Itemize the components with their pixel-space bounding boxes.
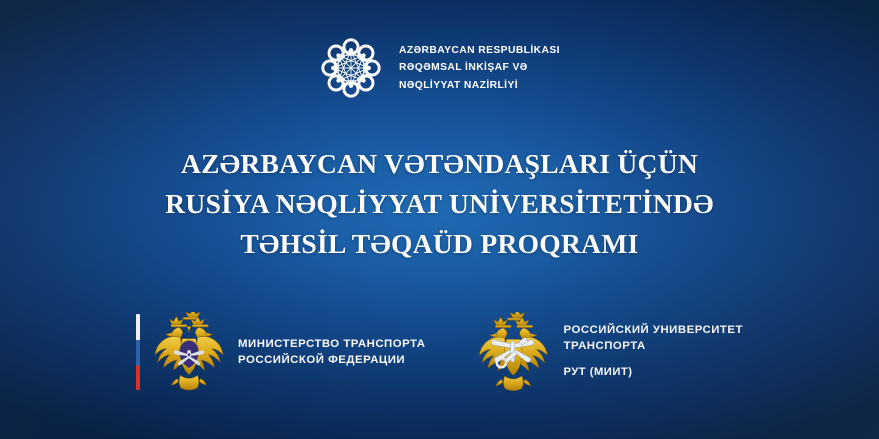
russian-university-of-transport-logo: РОССИЙСКИЙ УНИВЕРСИТЕТ ТРАНСПОРТА РУТ (М… bbox=[474, 312, 743, 392]
russian-university-of-transport-abbreviation: РУТ (МИИТ) bbox=[564, 365, 743, 381]
ministry-header-lockup: AZƏRBAYCAN RESPUBLİKASI RƏQƏMSAL İNKİŞAF… bbox=[0, 36, 879, 100]
page-title-line-1: AZƏRBAYCAN VƏTƏNDAŞLARI ÜÇÜN bbox=[0, 144, 879, 184]
ministry-header-line-3: NƏQLİYYAT NAZİRLİYİ bbox=[399, 77, 560, 94]
russian-tricolor-bar bbox=[136, 314, 140, 390]
russian-university-of-transport-line-1: РОССИЙСКИЙ УНИВЕРСИТЕТ bbox=[564, 323, 743, 339]
ministry-header-line-1: AZƏRBAYCAN RESPUBLİKASI bbox=[399, 42, 560, 59]
ministry-header-line-2: RƏQƏMSAL İNKİŞAF VƏ bbox=[399, 59, 560, 76]
russian-transport-ministry-logo: МИНИСТЕРСТВО ТРАНСПОРТА РОССИЙСКОЙ ФЕДЕР… bbox=[136, 312, 425, 392]
russian-university-of-transport-text: РОССИЙСКИЙ УНИВЕРСИТЕТ ТРАНСПОРТА РУТ (М… bbox=[564, 323, 743, 381]
russian-university-of-transport-eagle-emblem bbox=[474, 312, 552, 392]
page-title: AZƏRBAYCAN VƏTƏNDAŞLARI ÜÇÜN RUSİYA NƏQL… bbox=[0, 144, 879, 264]
poster-canvas: AZƏRBAYCAN RESPUBLİKASI RƏQƏMSAL İNKİŞAF… bbox=[0, 0, 879, 439]
page-title-line-2: RUSİYA NƏQLİYYAT UNİVERSİTETİNDƏ bbox=[0, 184, 879, 224]
page-title-line-3: TƏHSİL TƏQAÜD PROQRAMI bbox=[0, 224, 879, 264]
russian-transport-ministry-line-2: РОССИЙСКОЙ ФЕДЕРАЦИИ bbox=[238, 352, 425, 368]
russian-transport-ministry-eagle-emblem bbox=[152, 312, 226, 392]
russian-transport-ministry-line-1: МИНИСТЕРСТВО ТРАНСПОРТА bbox=[238, 336, 425, 352]
partner-logo-row: МИНИСТЕРСТВО ТРАНСПОРТА РОССИЙСКОЙ ФЕДЕР… bbox=[0, 306, 879, 398]
ministry-header-text: AZƏRBAYCAN RESPUBLİKASI RƏQƏMSAL İNKİŞAF… bbox=[399, 42, 560, 94]
russian-transport-ministry-text: МИНИСТЕРСТВО ТРАНСПОРТА РОССИЙСКОЙ ФЕДЕР… bbox=[238, 336, 425, 368]
azerbaijan-digital-development-transport-ministry-emblem bbox=[319, 36, 383, 100]
russian-university-of-transport-line-2: ТРАНСПОРТА bbox=[564, 339, 743, 355]
